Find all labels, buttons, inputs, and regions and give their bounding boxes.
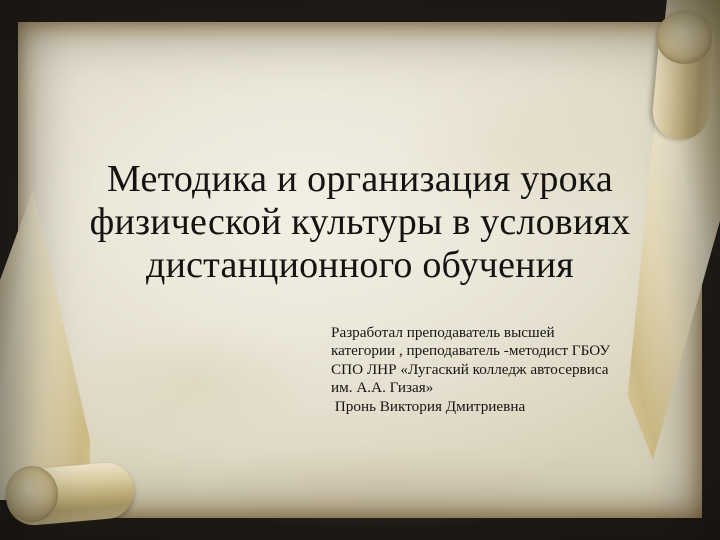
title-line-3: дистанционного обучения (60, 244, 660, 287)
subtitle-line-2: категории , преподаватель -методист ГБОУ (331, 342, 611, 360)
subtitle-line-4: им. А.А. Гизая» (331, 379, 611, 397)
title-line-2: физической культуры в условиях (60, 201, 660, 244)
presentation-slide: Методика и организация урока физической … (0, 0, 720, 540)
subtitle-line-3: СПО ЛНР «Лугаский колледж автосервиса (331, 361, 611, 379)
slide-title: Методика и организация урока физической … (60, 158, 660, 287)
parchment-blotch (78, 322, 318, 442)
subtitle-line-5: Пронь Виктория Дмитриевна (331, 398, 611, 416)
parchment-blotch (198, 442, 558, 532)
parchment-top-edge (18, 22, 702, 48)
slide-subtitle: Разработал преподаватель высшей категори… (331, 324, 611, 416)
subtitle-line-1: Разработал преподаватель высшей (331, 324, 611, 342)
title-line-1: Методика и организация урока (60, 158, 660, 201)
